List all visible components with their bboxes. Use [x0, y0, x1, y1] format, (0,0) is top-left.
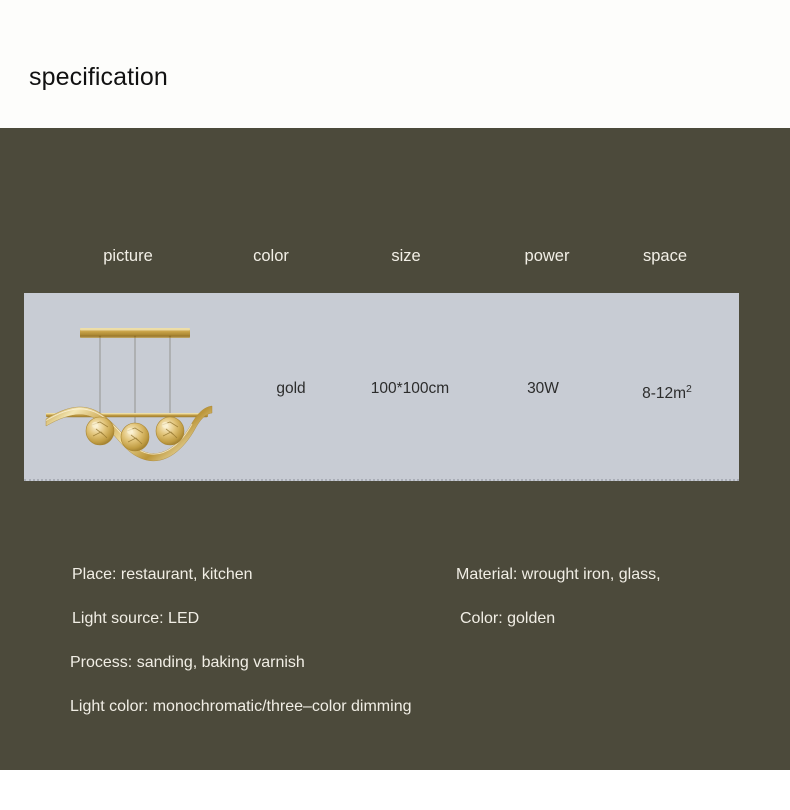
column-header-space: space — [643, 245, 687, 267]
detail-light-color: Light color: monochromatic/three–color d… — [70, 696, 411, 718]
suspension-wires — [100, 338, 170, 424]
footer-band — [0, 770, 790, 810]
cell-space-value: 8-12m — [642, 385, 686, 402]
cell-space-unit: 2 — [686, 383, 692, 395]
product-image — [32, 303, 252, 473]
page-title: specification — [29, 61, 168, 93]
column-header-size: size — [391, 245, 420, 267]
crystal-globe-center — [121, 423, 149, 451]
column-header-color: color — [253, 245, 289, 267]
ceiling-bar-icon — [80, 328, 190, 338]
detail-light-source: Light source: LED — [72, 608, 199, 630]
table-row: gold 100*100cm 30W 8-12m2 — [24, 293, 739, 481]
detail-material: Material: wrought iron, glass, — [456, 564, 661, 586]
table-header-row: picture color size power space — [24, 245, 739, 293]
cell-space: 8-12m2 — [642, 379, 692, 404]
header-band: specification — [0, 0, 790, 128]
detail-color: Color: golden — [460, 608, 555, 630]
detail-process: Process: sanding, baking varnish — [70, 652, 305, 674]
detail-place: Place: restaurant, kitchen — [72, 564, 253, 586]
column-header-picture: picture — [103, 245, 153, 267]
cell-power: 30W — [527, 379, 559, 399]
column-header-power: power — [525, 245, 570, 267]
cell-size: 100*100cm — [371, 379, 449, 399]
details-block: Place: restaurant, kitchen Light source:… — [0, 558, 790, 738]
crystal-globe-left — [86, 417, 114, 445]
cell-color: gold — [276, 379, 305, 399]
crystal-globe-right — [156, 417, 184, 445]
specification-table: picture color size power space — [24, 245, 739, 481]
